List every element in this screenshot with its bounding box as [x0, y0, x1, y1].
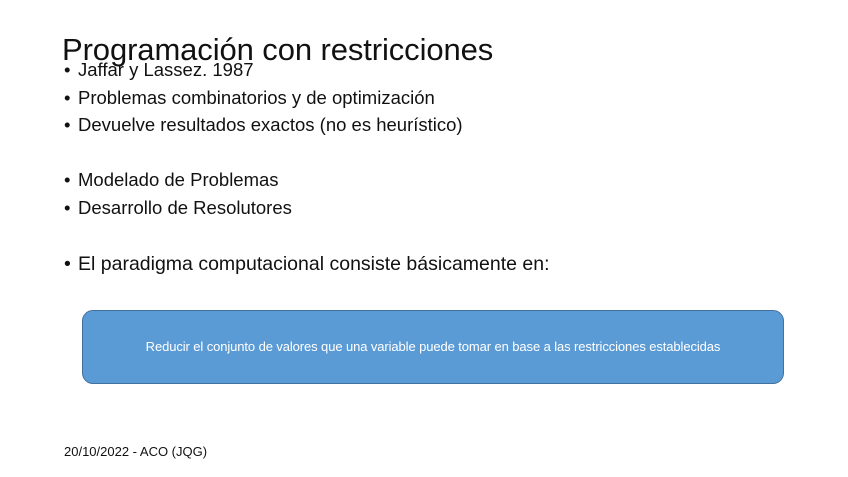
list-item-label: Modelado de Problemas [78, 169, 279, 190]
bullet-list-paradigm: • El paradigma computacional consiste bá… [62, 250, 550, 278]
list-item-label: Desarrollo de Resolutores [78, 197, 292, 218]
bullet-list-activities: • Modelado de Problemas • Desarrollo de … [62, 166, 292, 221]
callout-text: Reducir el conjunto de valores que una v… [132, 339, 735, 355]
list-item: • Problemas combinatorios y de optimizac… [62, 84, 463, 112]
list-item-label: El paradigma computacional consiste bási… [78, 253, 550, 275]
bullet-dot-icon: • [64, 56, 70, 84]
list-item: • Jaffar y Lassez. 1987 [62, 56, 463, 84]
list-item-label: Devuelve resultados exactos (no es heurí… [78, 114, 463, 135]
list-item: • Devuelve resultados exactos (no es heu… [62, 111, 463, 139]
list-item-label: Jaffar y Lassez. 1987 [78, 59, 254, 80]
list-item: • El paradigma computacional consiste bá… [62, 250, 550, 278]
bullet-dot-icon: • [64, 84, 70, 112]
slide-canvas: Programación con restricciones • Jaffar … [0, 0, 848, 477]
bullet-list-features: • Jaffar y Lassez. 1987 • Problemas comb… [62, 56, 463, 139]
bullet-dot-icon: • [64, 166, 70, 194]
footer-date-author: 20/10/2022 - ACO (JQG) [64, 444, 207, 459]
bullet-dot-icon: • [64, 194, 70, 222]
callout-box: Reducir el conjunto de valores que una v… [82, 310, 784, 384]
bullet-dot-icon: • [64, 250, 71, 278]
list-item: • Desarrollo de Resolutores [62, 194, 292, 222]
list-item-label: Problemas combinatorios y de optimizació… [78, 87, 435, 108]
list-item: • Modelado de Problemas [62, 166, 292, 194]
bullet-dot-icon: • [64, 111, 70, 139]
